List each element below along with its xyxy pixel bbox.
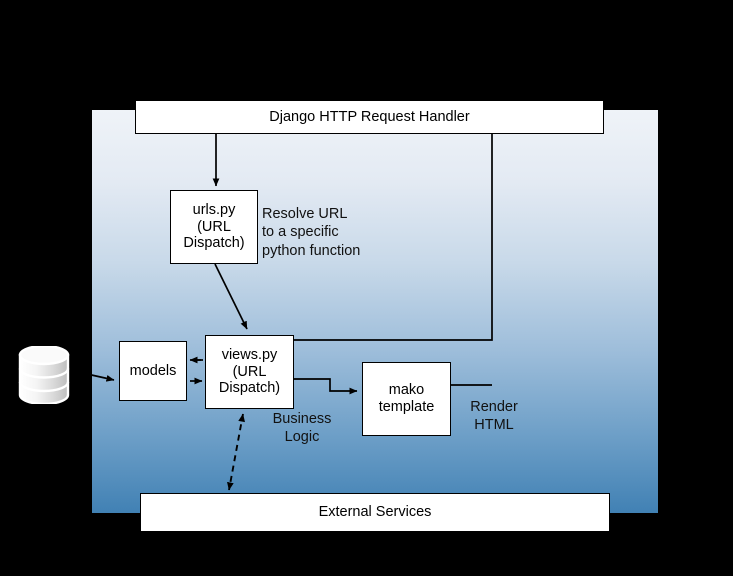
- node-label-line3: Dispatch): [219, 380, 280, 396]
- annotation-resolve-url: Resolve URL to a specific python functio…: [262, 205, 386, 260]
- node-label: views.py (URL Dispatch): [206, 347, 293, 397]
- node-label-line2: (URL: [197, 219, 231, 235]
- annotation-business-logic: Business Logic: [256, 410, 348, 447]
- node-label-line1: mako: [389, 382, 424, 398]
- node-label-line1: urls.py: [193, 202, 236, 218]
- node-label: mako template: [363, 382, 450, 416]
- node-label: models: [120, 363, 186, 380]
- connector-layer: [0, 0, 733, 576]
- node-label: urls.py (URL Dispatch): [171, 202, 257, 252]
- node-label-line2: template: [379, 399, 435, 415]
- node-external-services[interactable]: External Services: [140, 493, 610, 532]
- node-models[interactable]: models: [119, 341, 187, 401]
- node-django-http-request-handler[interactable]: Django HTTP Request Handler: [135, 100, 604, 134]
- diagram-canvas: Django HTTP Request Handler urls.py (URL…: [0, 0, 733, 576]
- node-urls-py[interactable]: urls.py (URL Dispatch): [170, 190, 258, 264]
- node-label-line2: (URL: [233, 364, 267, 380]
- node-mako-template[interactable]: mako template: [362, 362, 451, 436]
- node-label: Django HTTP Request Handler: [136, 109, 603, 126]
- annotation-render-html: Render HTML: [456, 398, 532, 435]
- connector-views-to-mako: [294, 379, 357, 391]
- node-label-line1: views.py: [222, 347, 278, 363]
- connector-urls-to-views: [215, 264, 247, 329]
- connector-views-to-external: [229, 414, 243, 490]
- node-views-py[interactable]: views.py (URL Dispatch): [205, 335, 294, 409]
- node-label: External Services: [141, 504, 609, 521]
- connector-database-to-models: [78, 372, 114, 380]
- node-label-line3: Dispatch): [183, 235, 244, 251]
- database-cylinder-icon: [17, 346, 71, 404]
